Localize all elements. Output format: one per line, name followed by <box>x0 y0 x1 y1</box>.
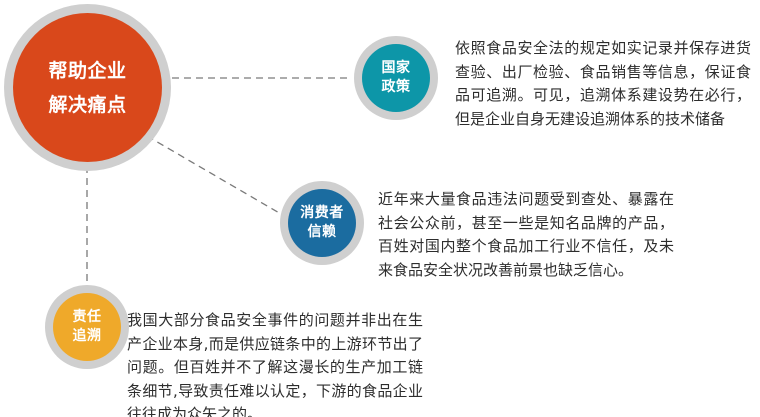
paragraph-national-policy: 依照食品安全法的规定如实记录并保存进货查验、出厂检验、食品销售等信息，保证食品可… <box>455 37 751 131</box>
branch-node-label-line2-national-policy: 政策 <box>382 78 411 97</box>
hub-node-label-line2: 解决痛点 <box>48 88 126 122</box>
hub-node-disc: 帮助企业 解决痛点 <box>13 13 162 162</box>
branch-node-national-policy[interactable]: 国家 政策 <box>354 36 438 120</box>
hub-node-help-enterprise[interactable]: 帮助企业 解决痛点 <box>4 4 171 171</box>
branch-node-consumer-trust[interactable]: 消费者 信赖 <box>280 181 364 265</box>
branch-node-disc-consumer-trust: 消费者 信赖 <box>288 189 356 257</box>
paragraph-responsibility-traceability: 我国大部分食品安全事件的问题并非出在生产企业本身,而是供应链条中的上游环节出了问… <box>127 309 423 417</box>
connector-hub-to-trust <box>147 136 281 214</box>
branch-node-label-line1-national-policy: 国家 <box>382 59 411 78</box>
branch-node-label-line2-consumer-trust: 信赖 <box>308 223 337 242</box>
branch-node-responsibility-traceability[interactable]: 责任 追溯 <box>45 285 129 369</box>
branch-node-label-line1-responsibility-traceability: 责任 <box>73 308 102 327</box>
diagram-canvas: 帮助企业 解决痛点 国家 政策 消费者 信赖 责任 追溯 依照食品安全法的规定如… <box>0 0 760 417</box>
branch-node-disc-national-policy: 国家 政策 <box>362 44 430 112</box>
branch-node-disc-responsibility-traceability: 责任 追溯 <box>53 293 121 361</box>
branch-node-label-line2-responsibility-traceability: 追溯 <box>73 327 102 346</box>
paragraph-consumer-trust: 近年来大量食品违法问题受到查处、暴露在社会公众前，甚至一些是知名品牌的产品，百姓… <box>378 188 674 282</box>
hub-node-label-line1: 帮助企业 <box>48 54 126 88</box>
branch-node-label-line1-consumer-trust: 消费者 <box>300 204 344 223</box>
